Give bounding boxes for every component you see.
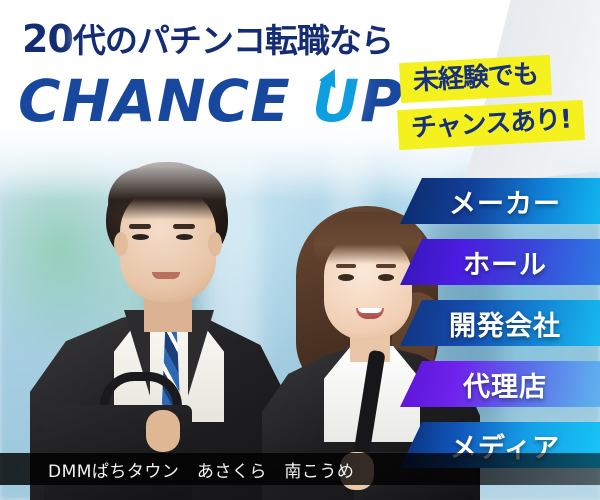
female-eye-left: [338, 274, 354, 281]
male-eyebrow-left: [129, 224, 151, 229]
caption-text: DMMぱちタウン あさくら 南こうめ: [0, 457, 354, 482]
category-button-hall[interactable]: ホール: [400, 239, 600, 285]
headline-line-1: 20代のパチンコ転職なら: [22, 20, 393, 58]
category-button-maker[interactable]: メーカー: [400, 178, 600, 224]
headline-text: 代のパチンコ転職なら: [73, 21, 393, 60]
chance-up-logo: CHANCE UP: [18, 72, 404, 130]
male-mouth: [152, 272, 180, 279]
male-ear-left: [114, 232, 128, 256]
category-label: ホール: [400, 243, 600, 282]
category-label: メーカー: [400, 182, 600, 221]
badge-text-1: 未経験でも: [399, 55, 552, 103]
logo-word-chance: CHANCE: [18, 67, 291, 135]
female-teeth: [358, 308, 382, 313]
female-eyebrow-left: [336, 264, 356, 268]
male-eye-left: [132, 234, 149, 240]
category-label: 代理店: [400, 365, 600, 404]
caption-bar: DMMぱちタウン あさくら 南こうめ: [0, 453, 600, 485]
category-label: 開発会社: [400, 304, 600, 343]
logo-letter-u: U: [312, 72, 360, 130]
photo-male-model: [28, 160, 288, 500]
badge-line-1: 未経験でも: [399, 55, 552, 103]
male-ear-right: [208, 232, 222, 256]
category-button-list: メーカー ホール 開発会社 代理店 メディア: [400, 178, 600, 483]
banner-advertisement[interactable]: 20代のパチンコ転職なら CHANCE UP 未経験でも チャンスあり! メーカ…: [0, 0, 600, 500]
female-eye-right: [378, 274, 394, 281]
male-hand: [146, 410, 180, 452]
headline-block: 20代のパチンコ転職なら: [22, 20, 393, 58]
category-button-agency[interactable]: 代理店: [400, 361, 600, 407]
headline-number: 20: [22, 17, 73, 61]
male-eye-right: [176, 234, 193, 240]
male-eyebrow-right: [173, 224, 195, 229]
category-button-developer[interactable]: 開発会社: [400, 300, 600, 346]
female-eyebrow-right: [376, 264, 396, 268]
